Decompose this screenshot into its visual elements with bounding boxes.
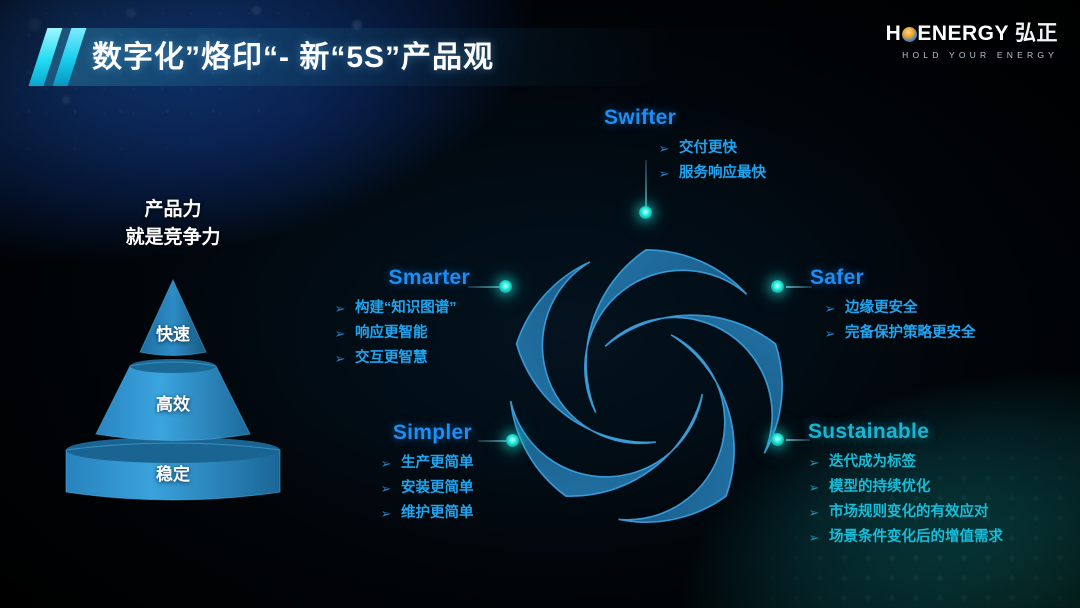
node-title-smarter: Smarter [334,266,470,290]
bullet-arrow-icon: ➢ [808,531,820,544]
list-item-text: 构建“知识图谱” [355,296,457,321]
bullet-arrow-icon: ➢ [380,507,392,520]
connector-dot-swifter [639,206,652,219]
list-item-text: 模型的持续优化 [829,475,931,500]
pyramid-graphic: 快速 高效 稳定 [60,270,286,502]
list-item: ➢交付更快 [658,136,766,161]
node-list-swifter: ➢交付更快 ➢服务响应最快 [658,136,766,186]
connector-line-safer [786,286,812,288]
bullet-arrow-icon: ➢ [808,456,820,469]
connector-dot-safer [771,280,784,293]
logo-o-orb-icon [902,27,917,42]
list-item: ➢完备保护策略更安全 [824,321,976,346]
list-item: ➢生产更简单 [380,451,474,476]
node-list-safer: ➢边缘更安全 ➢完备保护策略更安全 [824,296,976,346]
bullet-arrow-icon: ➢ [808,506,820,519]
node-list-smarter: ➢构建“知识图谱” ➢响应更智能 ➢交互更智慧 [334,296,470,371]
bullet-arrow-icon: ➢ [824,327,836,340]
list-item-text: 响应更智能 [355,321,428,346]
bullet-arrow-icon: ➢ [658,167,670,180]
node-title-sustainable: Sustainable [808,420,1003,444]
list-item: ➢边缘更安全 [824,296,976,321]
logo-tagline: HOLD YOUR ENERGY [886,50,1058,60]
logo-wordmark-pre: H [886,22,902,45]
list-item-text: 场景条件变化后的增值需求 [829,525,1003,550]
bullet-arrow-icon: ➢ [334,302,346,315]
pyramid-heading-line-1: 产品力 [58,196,288,224]
logo-chinese-name: 弘正 [1015,22,1058,45]
list-item: ➢服务响应最快 [658,161,766,186]
connector-dot-simpler [506,434,519,447]
list-item: ➢市场规则变化的有效应对 [808,500,1003,525]
node-swifter: Swifter ➢交付更快 ➢服务响应最快 [604,106,766,186]
connector-line-sustainable [786,439,810,441]
list-item: ➢场景条件变化后的增值需求 [808,525,1003,550]
node-smarter: Smarter ➢构建“知识图谱” ➢响应更智能 ➢交互更智慧 [334,266,470,371]
bokeh-circle [62,96,70,104]
bullet-arrow-icon: ➢ [824,302,836,315]
list-item: ➢模型的持续优化 [808,475,1003,500]
bullet-arrow-icon: ➢ [380,482,392,495]
logo-wordmark-post: ENERGY [917,22,1009,45]
bullet-arrow-icon: ➢ [334,327,346,340]
bullet-arrow-icon: ➢ [658,142,670,155]
bokeh-circle [126,8,136,18]
logo-wordmark: HENERGY弘正 [886,22,1058,46]
pyramid-tier-label-1: 快速 [60,320,286,345]
list-item-text: 维护更简单 [401,501,474,526]
node-simpler: Simpler ➢生产更简单 ➢安装更简单 ➢维护更简单 [372,421,474,526]
five-s-ring-graphic [498,238,794,534]
list-item: ➢响应更智能 [334,321,470,346]
list-item-text: 生产更简单 [401,451,474,476]
bokeh-circle [28,18,41,31]
list-item: ➢维护更简单 [380,501,474,526]
connector-dot-smarter [499,280,512,293]
node-title-swifter: Swifter [604,106,766,130]
bullet-arrow-icon: ➢ [334,352,346,365]
pyramid-heading-line-2: 就是竞争力 [58,224,288,252]
node-title-safer: Safer [810,266,976,290]
pyramid-tier-label-3: 稳定 [60,460,286,485]
bokeh-circle [252,6,261,15]
bullet-arrow-icon: ➢ [808,481,820,494]
list-item-text: 服务响应最快 [679,161,766,186]
node-list-sustainable: ➢迭代成为标签 ➢模型的持续优化 ➢市场规则变化的有效应对 ➢场景条件变化后的增… [808,450,1003,550]
brand-logo: HENERGY弘正 HOLD YOUR ENERGY [886,22,1058,60]
node-safer: Safer ➢边缘更安全 ➢完备保护策略更安全 [810,266,976,346]
node-title-simpler: Simpler [372,421,472,445]
bullet-arrow-icon: ➢ [380,457,392,470]
slide-canvas: 数字化”烙印“- 新“5S”产品观 HENERGY弘正 HOLD YOUR EN… [0,0,1080,608]
list-item-text: 完备保护策略更安全 [845,321,976,346]
list-item: ➢交互更智慧 [334,346,470,371]
node-list-simpler: ➢生产更简单 ➢安装更简单 ➢维护更简单 [380,451,474,526]
list-item-text: 边缘更安全 [845,296,918,321]
pyramid-tier-label-2: 高效 [60,390,286,415]
page-title: 数字化”烙印“- 新“5S”产品观 [92,34,494,82]
ring-svg [498,238,794,534]
node-sustainable: Sustainable ➢迭代成为标签 ➢模型的持续优化 ➢市场规则变化的有效应… [808,420,1003,550]
pyramid-heading: 产品力 就是竞争力 [58,196,288,252]
list-item-text: 迭代成为标签 [829,450,916,475]
list-item: ➢迭代成为标签 [808,450,1003,475]
list-item-text: 安装更简单 [401,476,474,501]
connector-dot-sustainable [771,433,784,446]
list-item: ➢构建“知识图谱” [334,296,470,321]
list-item: ➢安装更简单 [380,476,474,501]
list-item-text: 交互更智慧 [355,346,428,371]
list-item-text: 交付更快 [679,136,737,161]
list-item-text: 市场规则变化的有效应对 [829,500,989,525]
